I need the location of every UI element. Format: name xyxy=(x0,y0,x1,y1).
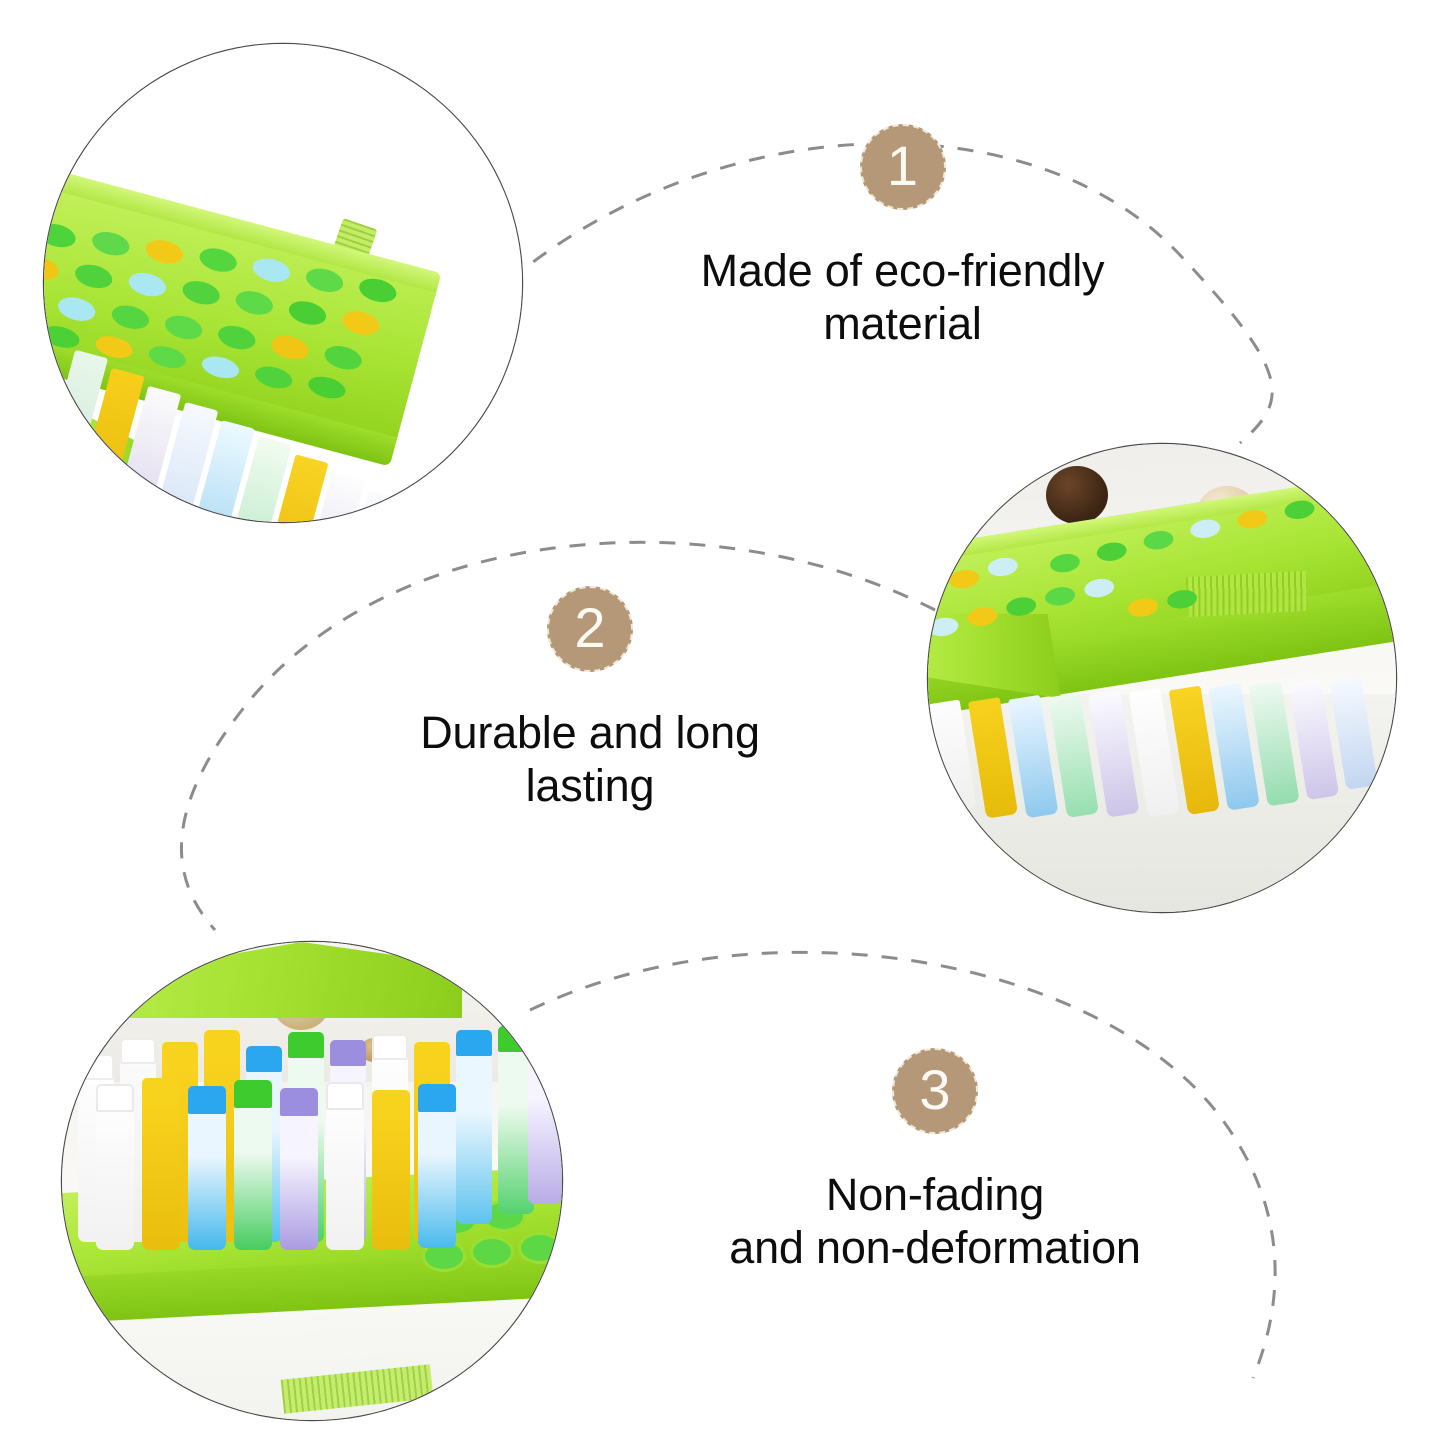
feature-text-1: Made of eco-friendly material xyxy=(630,244,1175,350)
step-badge-2: 2 xyxy=(547,586,633,672)
feature-3: 3 Non-fading and non-deformation xyxy=(655,1048,1215,1274)
decor-ball-dark xyxy=(1046,466,1108,524)
step-number-1: 1 xyxy=(887,138,918,194)
photo-rack-filled-tubes xyxy=(62,942,562,1420)
step-badge-3: 3 xyxy=(892,1048,978,1134)
photo-rack-side-view xyxy=(928,444,1396,912)
step-number-3: 3 xyxy=(919,1062,950,1118)
feature-2: 2 Durable and long lasting xyxy=(320,586,860,812)
infographic-canvas: 1 Made of eco-friendly material xyxy=(0,0,1445,1445)
feature-1: 1 Made of eco-friendly material xyxy=(630,124,1175,350)
feature-text-2: Durable and long lasting xyxy=(320,706,860,812)
handle-grip-texture-2 xyxy=(1186,571,1308,617)
feature-text-3: Non-fading and non-deformation xyxy=(655,1168,1215,1274)
step-number-2: 2 xyxy=(574,600,605,656)
photo-rack-with-handle xyxy=(44,44,522,522)
step-badge-1: 1 xyxy=(860,124,946,210)
